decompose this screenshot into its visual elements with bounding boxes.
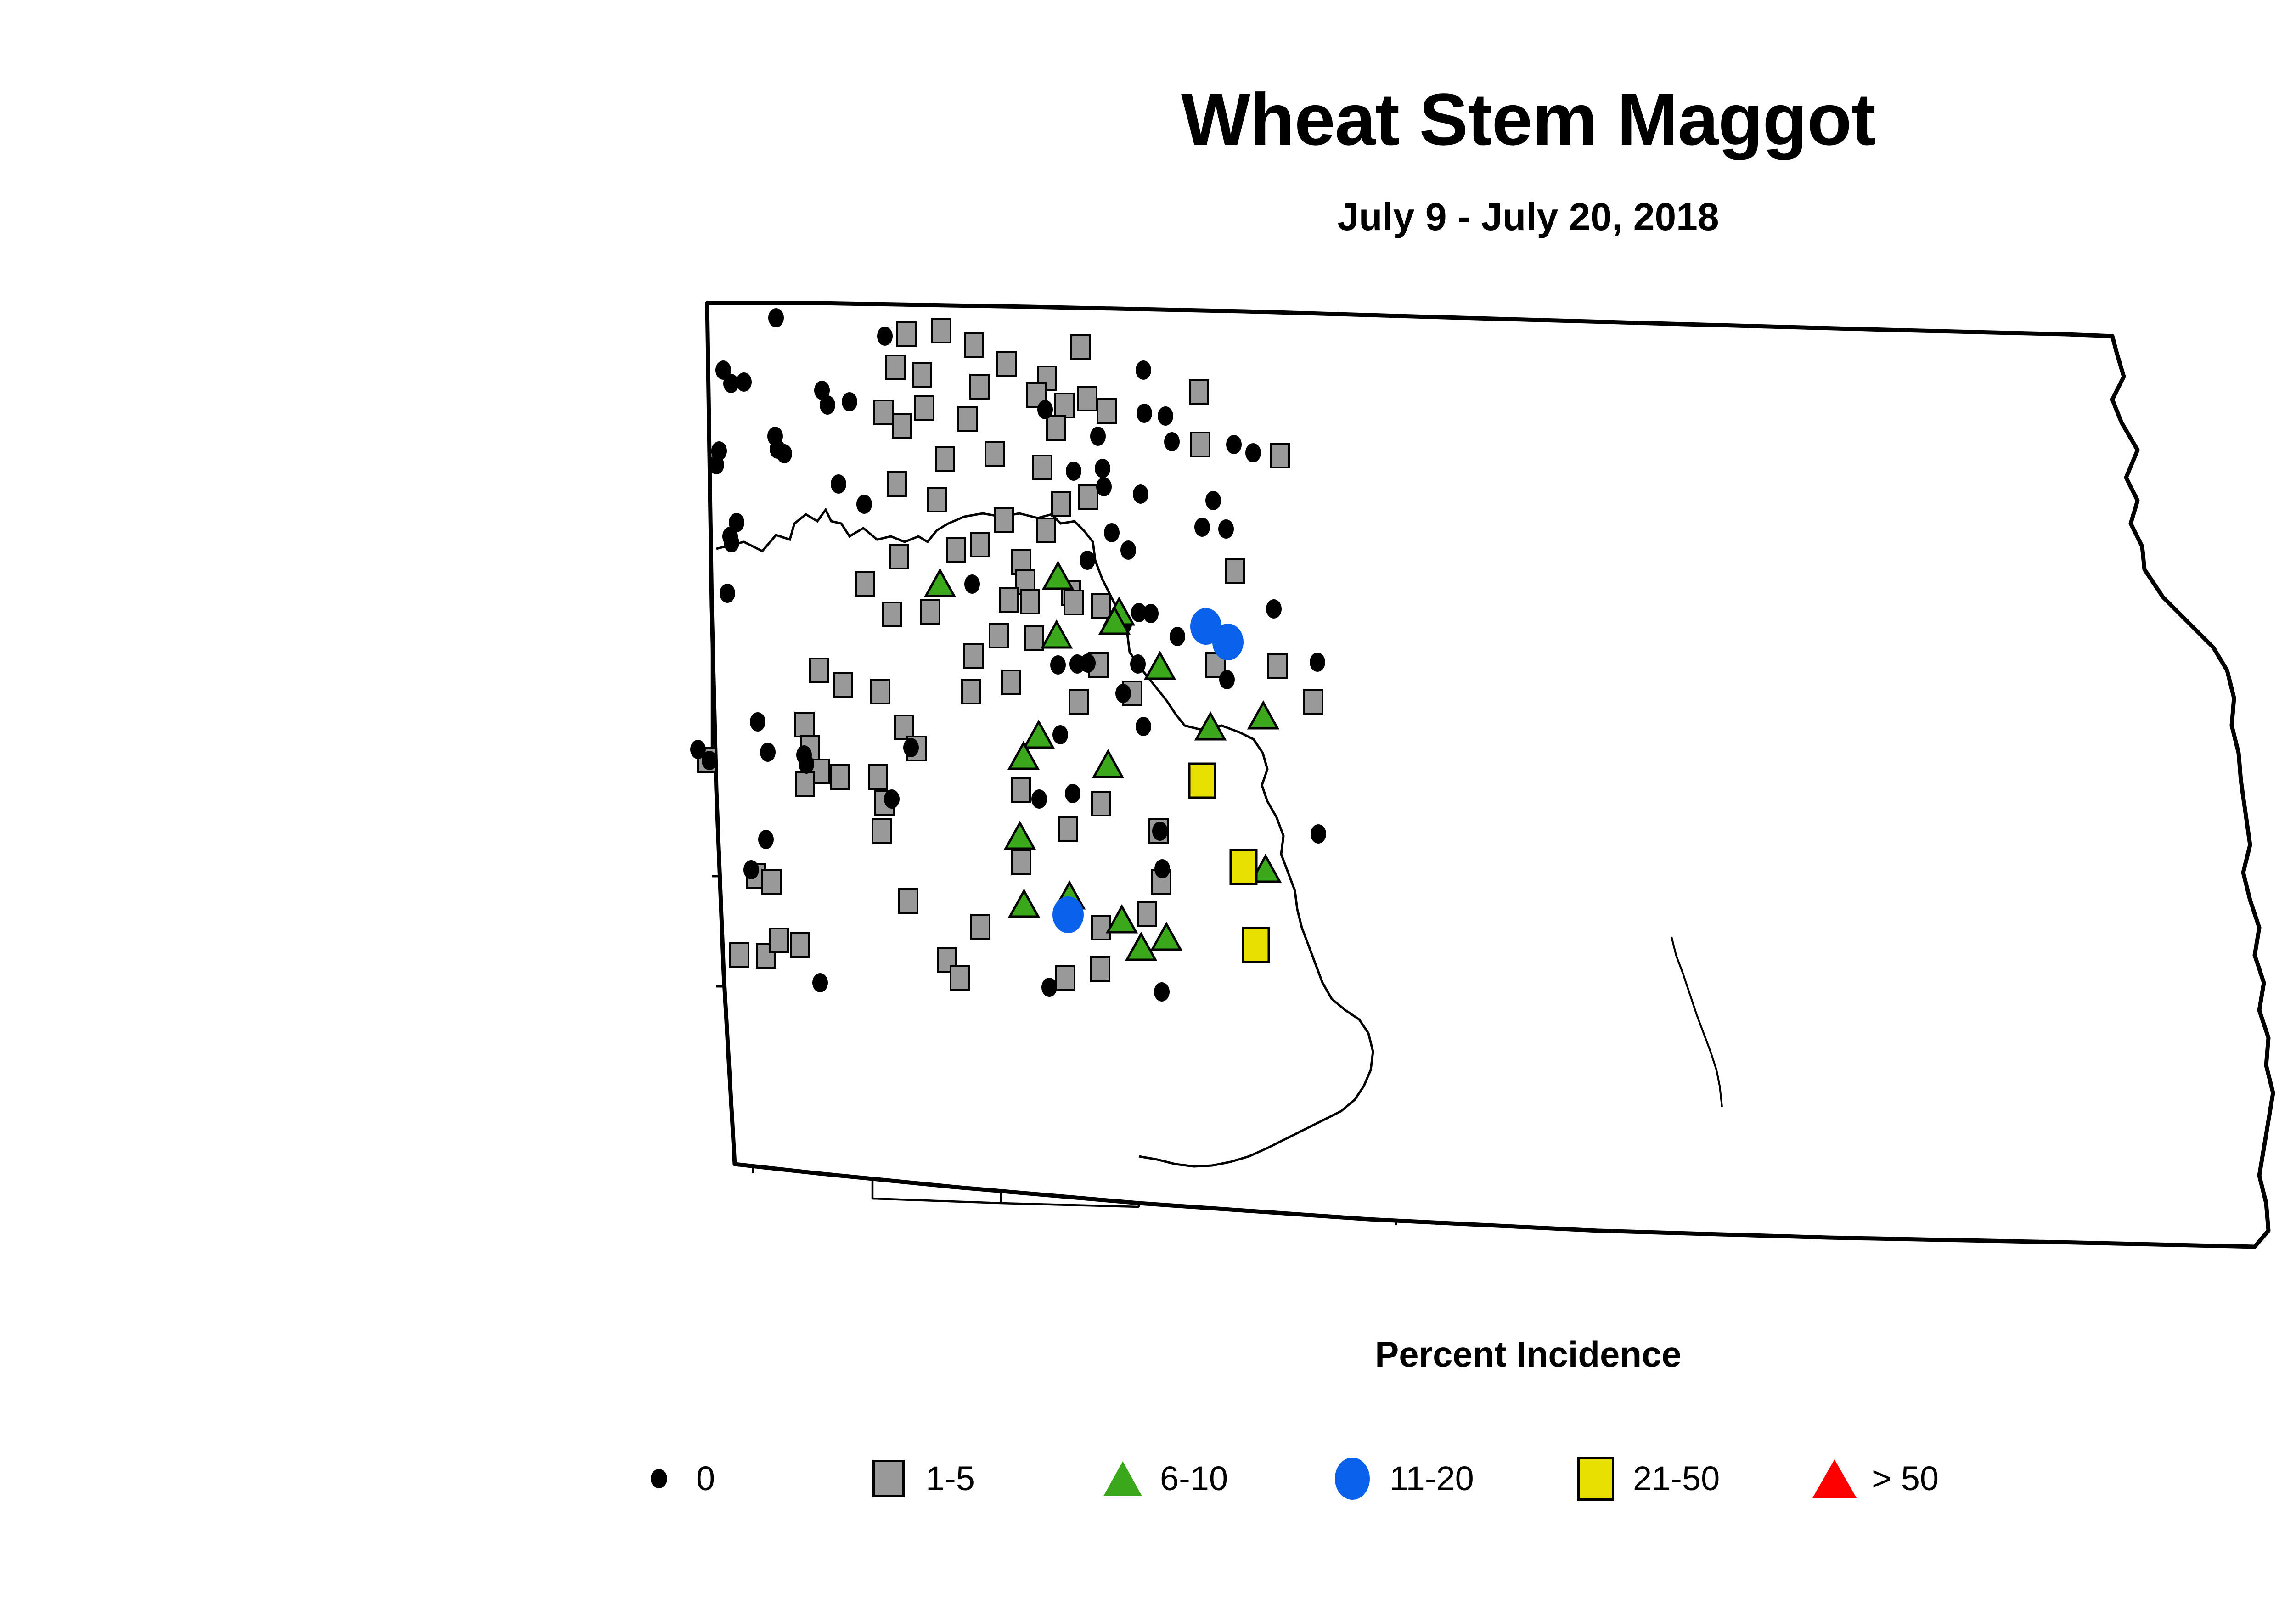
incidence-marker-zero	[842, 392, 857, 411]
incidence-marker-zero	[1120, 540, 1136, 560]
incidence-marker-zero	[1152, 822, 1168, 841]
incidence-marker-zero	[1266, 599, 1282, 619]
legend-item-0[interactable]: 0	[634, 1437, 715, 1520]
incidence-marker-zero	[1080, 653, 1096, 673]
legend-item-label: 21-50	[1633, 1462, 1720, 1496]
incidence-marker-low	[1079, 485, 1097, 509]
incidence-marker-zero	[1041, 978, 1057, 997]
legend-title: Percent Incidence	[0, 1336, 2296, 1372]
incidence-marker-low	[1012, 850, 1030, 874]
incidence-marker-low	[1226, 559, 1244, 583]
incidence-marker-low	[928, 488, 946, 512]
incidence-marker-zero	[1052, 725, 1068, 744]
map-svg	[680, 285, 2296, 1286]
incidence-marker-low	[970, 375, 989, 399]
incidence-marker-zero	[768, 308, 784, 327]
incidence-marker-zero	[1205, 491, 1221, 510]
legend-item-label: 6-10	[1160, 1462, 1228, 1496]
incidence-marker-low	[962, 680, 980, 704]
incidence-marker-zero	[760, 743, 776, 762]
incidence-marker-zero	[1194, 518, 1210, 537]
legend-item-label: 11-20	[1390, 1462, 1474, 1496]
incidence-marker-low	[1055, 394, 1074, 417]
incidence-marker-low	[1092, 594, 1110, 618]
incidence-marker-zero	[1090, 427, 1106, 446]
incidence-marker-low	[770, 929, 788, 952]
incidence-marker-low	[796, 772, 814, 796]
incidence-marker-low	[965, 333, 983, 357]
incidence-marker-zero	[1218, 519, 1234, 539]
incidence-marker-zero	[812, 973, 828, 992]
incidence-marker-low	[899, 889, 917, 913]
incidence-marker-low	[1000, 588, 1018, 612]
legend-swatch-triangle-icon	[1097, 1453, 1148, 1504]
state-outline	[707, 303, 2273, 1247]
incidence-marker-zero	[831, 474, 846, 494]
incidence-marker-low	[1056, 966, 1075, 990]
page-subtitle: July 9 - July 20, 2018	[0, 197, 2296, 236]
incidence-marker-low	[795, 713, 814, 737]
incidence-marker-low	[915, 396, 934, 420]
legend-swatch-shape	[1335, 1458, 1370, 1500]
incidence-marker-zero	[1311, 824, 1326, 844]
incidence-marker-low	[1078, 387, 1097, 411]
incidence-marker-low	[1271, 444, 1289, 467]
incidence-marker-low	[871, 680, 889, 704]
legend-item--50[interactable]: > 50	[1809, 1437, 1939, 1520]
incidence-marker-low	[831, 765, 849, 789]
incidence-marker-low	[1047, 416, 1065, 440]
incidence-marker-zero	[1136, 360, 1151, 380]
incidence-marker-zero	[736, 372, 752, 392]
incidence-marker-veryhigh	[1189, 764, 1215, 798]
incidence-marker-low	[971, 533, 989, 557]
legend-item-1-5[interactable]: 1-5	[863, 1437, 975, 1520]
legend-swatch-shape	[651, 1469, 667, 1488]
incidence-marker-zero	[1245, 443, 1261, 462]
legend-swatch-circle-icon	[634, 1453, 684, 1504]
incidence-marker-low	[932, 319, 951, 343]
north-dakota-map	[680, 285, 2296, 1286]
legend-swatch-shape	[1103, 1461, 1142, 1496]
incidence-marker-zero	[758, 830, 774, 849]
legend: 01-56-1011-2021-50> 50	[634, 1437, 2296, 1520]
incidence-marker-low	[971, 915, 990, 939]
legend-item-11-20[interactable]: 11-20	[1327, 1437, 1474, 1520]
legend-swatch-shape	[1812, 1459, 1857, 1498]
incidence-marker-zero	[1170, 627, 1185, 646]
incidence-marker-low	[897, 322, 916, 346]
incidence-marker-zero	[799, 754, 814, 774]
incidence-marker-low	[1021, 590, 1039, 614]
incidence-marker-zero	[1037, 400, 1053, 419]
incidence-marker-low	[964, 644, 983, 668]
legend-swatch-circle-icon	[1327, 1453, 1378, 1504]
incidence-marker-zero	[856, 495, 872, 514]
incidence-marker-low	[1069, 690, 1088, 714]
incidence-marker-zero	[1096, 477, 1112, 496]
incidence-marker-zero	[1066, 462, 1081, 481]
incidence-marker-low	[1092, 916, 1110, 940]
legend-item-21-50[interactable]: 21-50	[1570, 1437, 1720, 1520]
incidence-marker-zero	[1080, 551, 1095, 570]
incidence-marker-low	[1064, 591, 1083, 614]
incidence-marker-veryhigh	[1243, 928, 1269, 962]
incidence-marker-zero	[1136, 717, 1151, 736]
incidence-marker-zero	[964, 574, 980, 594]
incidence-marker-low	[810, 659, 828, 682]
incidence-marker-zero	[884, 789, 900, 809]
incidence-marker-zero	[724, 533, 739, 552]
incidence-marker-veryhigh	[1231, 850, 1256, 884]
incidence-marker-zero	[1065, 784, 1080, 803]
incidence-marker-low	[1037, 518, 1055, 542]
incidence-marker-low	[936, 447, 954, 471]
incidence-marker-zero	[1158, 406, 1173, 426]
incidence-marker-low	[951, 966, 969, 990]
incidence-marker-zero	[1050, 655, 1066, 675]
page-title: Wheat Stem Maggot	[0, 83, 2296, 156]
incidence-marker-low	[869, 765, 887, 789]
chart-root: Wheat Stem Maggot July 9 - July 20, 2018…	[0, 0, 2296, 1610]
incidence-marker-zero	[1137, 404, 1152, 423]
legend-swatch-shape	[872, 1460, 905, 1497]
incidence-marker-low	[834, 673, 852, 697]
legend-item-label: 1-5	[926, 1462, 975, 1496]
incidence-marker-low	[1052, 492, 1070, 516]
incidence-marker-zero	[1104, 523, 1120, 542]
incidence-marker-zero	[1143, 604, 1159, 623]
incidence-marker-high	[1052, 896, 1084, 933]
incidence-marker-low	[913, 363, 931, 387]
legend-item-label: 0	[696, 1462, 715, 1496]
incidence-marker-low	[1091, 957, 1109, 981]
incidence-marker-low	[1191, 433, 1210, 456]
incidence-marker-low	[762, 870, 781, 894]
incidence-marker-zero	[1133, 484, 1148, 504]
incidence-marker-low	[856, 572, 874, 596]
incidence-marker-zero	[1164, 432, 1180, 451]
legend-swatch-square-icon	[863, 1453, 914, 1504]
incidence-marker-low	[791, 933, 809, 957]
incidence-marker-zero	[1310, 653, 1325, 672]
incidence-marker-zero	[702, 751, 717, 770]
incidence-marker-zero	[1031, 789, 1047, 809]
incidence-marker-zero	[750, 712, 765, 732]
legend-swatch-triangle-icon	[1809, 1453, 1860, 1504]
legend-item-label: > 50	[1872, 1462, 1939, 1496]
incidence-marker-low	[1190, 380, 1208, 404]
incidence-marker-low	[890, 545, 908, 569]
incidence-marker-low	[1097, 399, 1116, 423]
incidence-marker-low	[1059, 817, 1077, 841]
incidence-marker-low	[730, 943, 748, 967]
incidence-marker-zero	[1154, 982, 1170, 1002]
incidence-marker-low	[995, 508, 1013, 532]
incidence-marker-zero	[877, 327, 893, 346]
incidence-marker-low	[990, 624, 1008, 647]
incidence-marker-low	[921, 600, 940, 624]
incidence-marker-high	[1212, 624, 1244, 660]
incidence-marker-low	[1071, 335, 1090, 359]
incidence-marker-low	[997, 352, 1016, 376]
incidence-marker-low	[1138, 902, 1156, 926]
incidence-marker-low	[888, 472, 906, 496]
incidence-marker-zero	[1154, 859, 1170, 878]
incidence-marker-zero	[1130, 654, 1146, 674]
incidence-marker-low	[947, 538, 965, 562]
incidence-marker-low	[874, 400, 893, 424]
incidence-marker-low	[1304, 690, 1322, 714]
incidence-marker-zero	[743, 860, 759, 879]
incidence-marker-low	[1033, 456, 1052, 479]
incidence-marker-zero	[820, 395, 835, 415]
incidence-marker-low	[1025, 626, 1043, 650]
incidence-marker-low	[893, 414, 911, 438]
incidence-marker-low	[872, 819, 891, 843]
legend-item-6-10[interactable]: 6-10	[1097, 1437, 1228, 1520]
incidence-marker-low	[883, 602, 901, 626]
incidence-marker-zero	[903, 738, 919, 757]
incidence-marker-zero	[1226, 435, 1242, 454]
incidence-marker-low	[1268, 654, 1287, 678]
incidence-marker-low	[985, 442, 1004, 466]
incidence-marker-zero	[720, 584, 735, 603]
incidence-marker-low	[1012, 778, 1030, 802]
legend-swatch-square-icon	[1570, 1453, 1621, 1504]
incidence-marker-low	[958, 407, 977, 431]
incidence-marker-zero	[777, 444, 792, 463]
incidence-marker-low	[1092, 792, 1110, 816]
incidence-marker-zero	[1115, 684, 1131, 703]
legend-swatch-shape	[1577, 1457, 1614, 1501]
incidence-marker-zero	[709, 455, 724, 474]
incidence-marker-low	[886, 355, 905, 379]
incidence-marker-zero	[1095, 459, 1110, 478]
incidence-marker-zero	[1219, 670, 1235, 689]
incidence-marker-low	[1002, 670, 1020, 694]
